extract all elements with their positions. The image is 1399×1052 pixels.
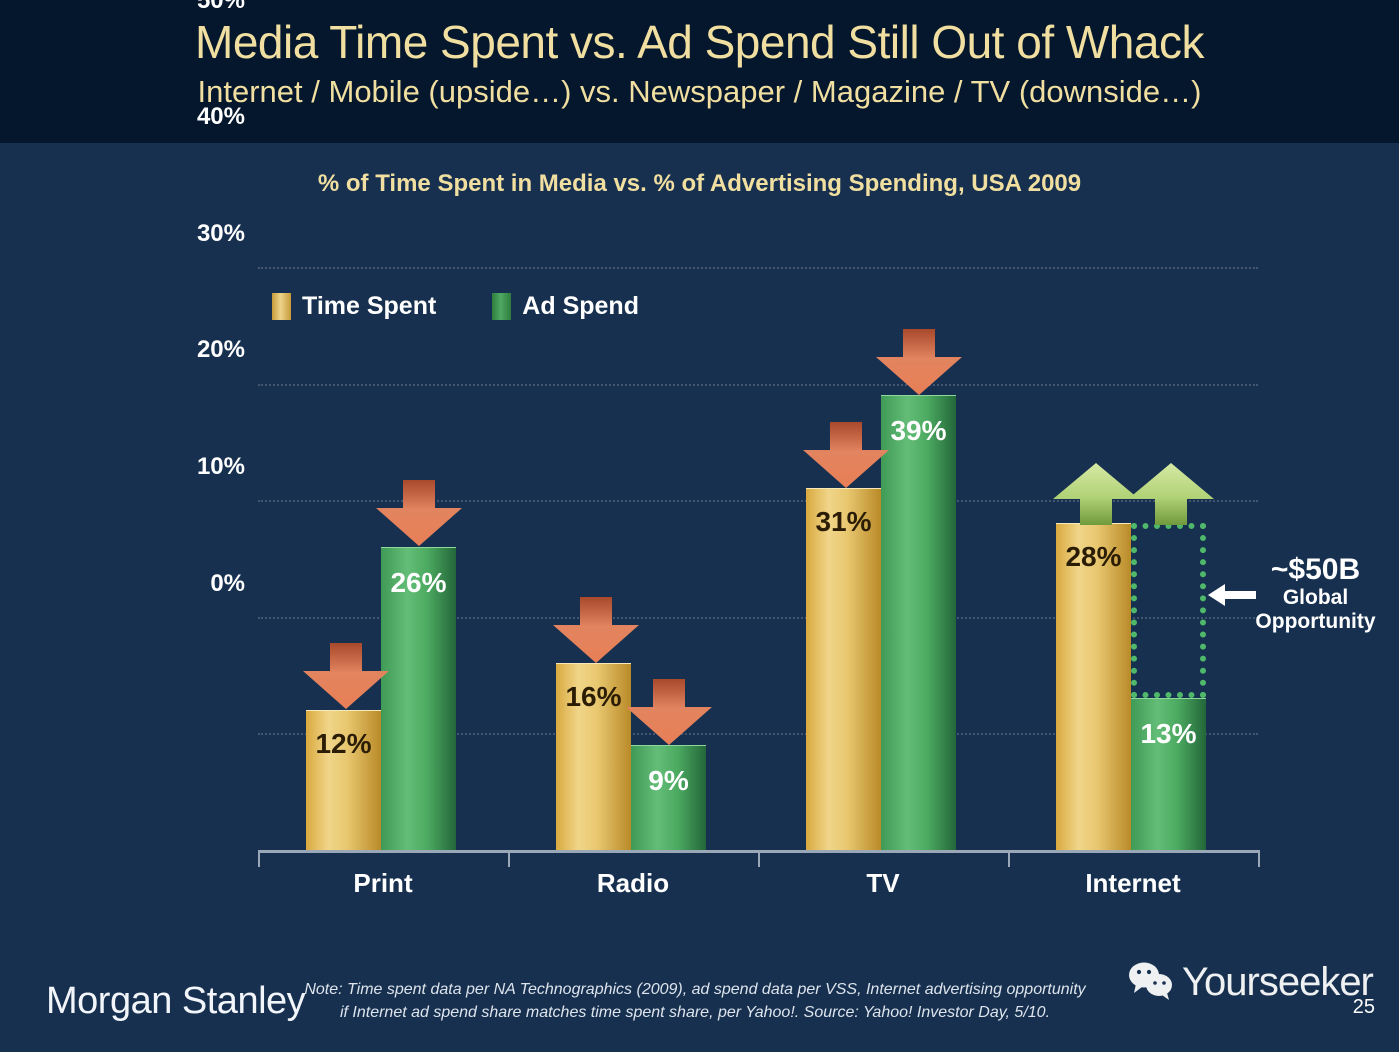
bar-value-internet-ad-spend: 13% — [1131, 718, 1206, 750]
bar-tv-ad-spend[interactable]: 39% — [881, 395, 956, 850]
opportunity-line1: Global — [1232, 586, 1399, 611]
gridline-40 — [258, 384, 1258, 386]
bar-print-ad-spend[interactable]: 26% — [381, 547, 456, 850]
x-axis-tick-3 — [1008, 850, 1010, 867]
opportunity-gap-box — [1131, 523, 1206, 698]
down-arrow-tv-time-spent — [803, 422, 889, 488]
y-tick-10: 10% — [197, 453, 245, 481]
y-tick-50: 50% — [197, 0, 245, 15]
x-label-radio: Radio — [508, 868, 758, 899]
bar-value-tv-ad-spend: 39% — [881, 415, 956, 447]
chart-legend: Time Spent Ad Spend — [272, 292, 639, 321]
bar-print-time-spent[interactable]: 12% — [306, 710, 381, 850]
down-arrow-tv-ad-spend — [876, 329, 962, 395]
legend-item-ad-spend[interactable]: Ad Spend — [492, 292, 639, 321]
bar-radio-time-spent[interactable]: 16% — [556, 663, 631, 850]
x-axis-tick-0 — [258, 850, 260, 867]
bar-value-print-time-spent: 12% — [306, 728, 381, 760]
up-arrow-internet-time-spent — [1053, 463, 1139, 525]
y-tick-0: 0% — [210, 570, 245, 598]
y-tick-30: 30% — [197, 220, 245, 248]
opportunity-callout: ~$50B Global Opportunity — [1232, 554, 1399, 635]
plot-area: 12% 26% 16% 9% — [258, 267, 1258, 850]
bar-radio-ad-spend[interactable]: 9% — [631, 745, 706, 850]
page-title: Media Time Spent vs. Ad Spend Still Out … — [0, 15, 1399, 69]
legend-label-ad-spend: Ad Spend — [522, 292, 639, 321]
down-arrow-print-ad-spend — [376, 480, 462, 546]
x-label-tv: TV — [758, 868, 1008, 899]
brand-text: Morgan Stanley — [46, 980, 305, 1022]
brand-logo: Morgan Stanley — [46, 980, 305, 1023]
wechat-icon — [1128, 960, 1174, 1005]
bar-value-radio-ad-spend: 9% — [631, 765, 706, 797]
watermark-text: Yourseeker — [1182, 960, 1373, 1005]
bar-value-print-ad-spend: 26% — [381, 567, 456, 599]
bar-value-internet-time-spent: 28% — [1056, 541, 1131, 573]
up-arrow-internet-ad-spend — [1128, 463, 1214, 525]
bar-value-radio-time-spent: 16% — [556, 681, 631, 713]
gridline-50 — [258, 267, 1258, 269]
down-arrow-radio-ad-spend — [626, 679, 712, 745]
watermark: Yourseeker — [1128, 960, 1373, 1005]
legend-item-time-spent[interactable]: Time Spent — [272, 292, 436, 321]
x-axis-tick-4 — [1258, 850, 1260, 867]
x-label-print: Print — [258, 868, 508, 899]
legend-swatch-icon-ad-spend — [492, 293, 511, 320]
bar-internet-ad-spend[interactable]: 13% — [1131, 698, 1206, 850]
opportunity-line2: Opportunity — [1232, 610, 1399, 635]
down-arrow-radio-time-spent — [553, 597, 639, 663]
x-axis-tick-1 — [508, 850, 510, 867]
y-tick-40: 40% — [197, 103, 245, 131]
down-arrow-print-time-spent — [303, 643, 389, 709]
bar-tv-time-spent[interactable]: 31% — [806, 488, 881, 850]
bar-internet-time-spent[interactable]: 28% — [1056, 523, 1131, 850]
chart-title: % of Time Spent in Media vs. % of Advert… — [0, 170, 1399, 198]
legend-label-time-spent: Time Spent — [302, 292, 436, 321]
y-tick-20: 20% — [197, 336, 245, 364]
slide-root: Media Time Spent vs. Ad Spend Still Out … — [0, 0, 1399, 1052]
x-label-internet: Internet — [1008, 868, 1258, 899]
legend-swatch-icon-time-spent — [272, 293, 291, 320]
bar-value-tv-time-spent: 31% — [806, 506, 881, 538]
x-axis-tick-2 — [758, 850, 760, 867]
opportunity-amount: ~$50B — [1232, 554, 1399, 586]
footnote: Note: Time spent data per NA Technograph… — [300, 978, 1090, 1024]
